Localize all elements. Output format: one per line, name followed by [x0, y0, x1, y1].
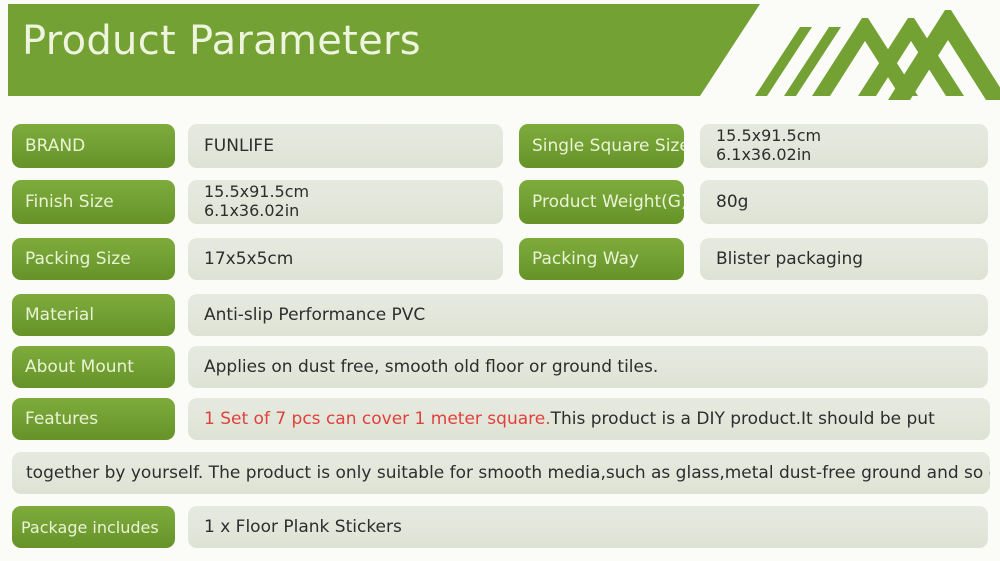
table-row: Material Anti-slip Performance PVC: [0, 294, 1000, 336]
label-package-includes: Package includes: [12, 506, 175, 548]
features-highlight: 1 Set of 7 pcs can cover 1 meter square.: [204, 409, 551, 429]
label-material: Material: [12, 294, 175, 336]
value-features: 1 Set of 7 pcs can cover 1 meter square.…: [188, 398, 990, 440]
label-packing-way: Packing Way: [519, 238, 684, 280]
value-finish-size: 15.5x91.5cm 6.1x36.02in: [188, 180, 503, 224]
label-about-mount: About Mount: [12, 346, 175, 388]
value-features-continuation: together by yourself. The product is onl…: [12, 452, 990, 494]
table-row: BRAND FUNLIFE Single Square Size 15.5x91…: [0, 124, 1000, 168]
value-packing-size: 17x5x5cm: [188, 238, 503, 280]
label-single-square-size: Single Square Size: [519, 124, 684, 168]
value-material: Anti-slip Performance PVC: [188, 294, 988, 336]
label-product-weight: Product Weight(G): [519, 180, 684, 224]
label-features: Features: [12, 398, 175, 440]
table-row: Packing Size 17x5x5cm Packing Way Bliste…: [0, 238, 1000, 280]
table-row: Features 1 Set of 7 pcs can cover 1 mete…: [0, 398, 1000, 440]
page-header: Product Parameters: [0, 0, 1000, 100]
table-row-continuation: together by yourself. The product is onl…: [0, 452, 1000, 494]
label-brand: BRAND: [12, 124, 175, 168]
label-packing-size: Packing Size: [12, 238, 175, 280]
value-single-square-size: 15.5x91.5cm 6.1x36.02in: [700, 124, 988, 168]
label-finish-size: Finish Size: [12, 180, 175, 224]
value-packing-way: Blister packaging: [700, 238, 988, 280]
page-title: Product Parameters: [22, 18, 421, 64]
value-about-mount: Applies on dust free, smooth old floor o…: [188, 346, 988, 388]
table-row: Package includes 1 x Floor Plank Sticker…: [0, 506, 1000, 548]
value-brand: FUNLIFE: [188, 124, 503, 168]
value-package-includes: 1 x Floor Plank Stickers: [188, 506, 988, 548]
table-row: Finish Size 15.5x91.5cm 6.1x36.02in Prod…: [0, 180, 1000, 224]
features-rest: This product is a DIY product.It should …: [551, 409, 935, 429]
value-product-weight: 80g: [700, 180, 988, 224]
table-row: About Mount Applies on dust free, smooth…: [0, 346, 1000, 388]
